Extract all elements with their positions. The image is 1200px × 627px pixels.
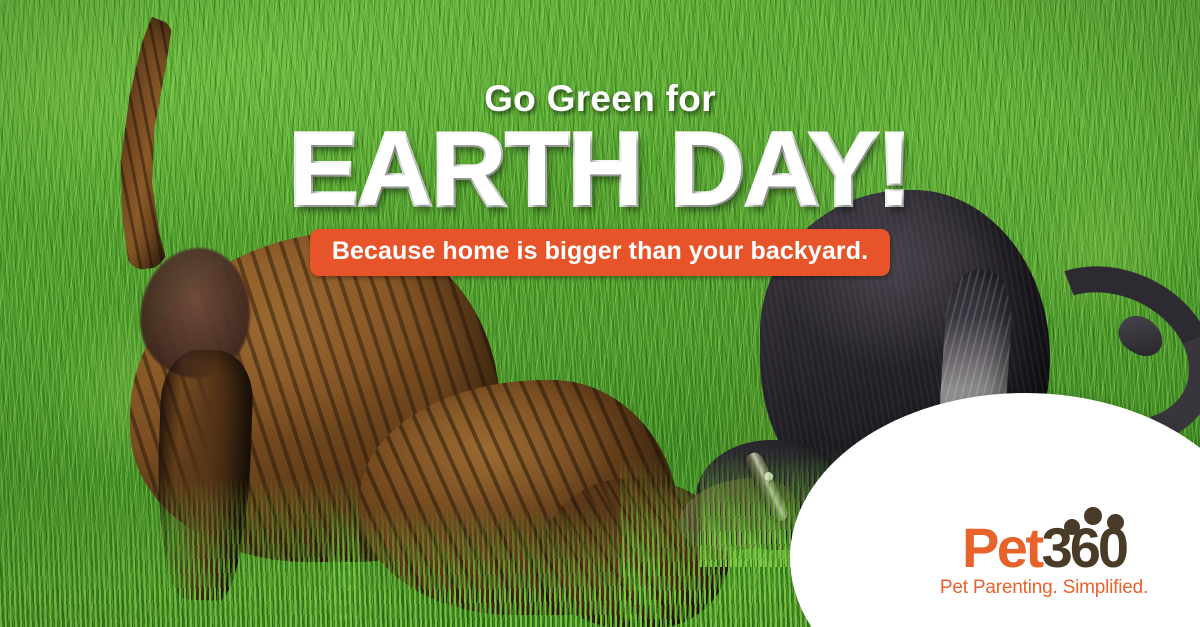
brand-wordmark-primary: Pet: [962, 516, 1042, 579]
page-title: EARTH DAY!: [0, 123, 1200, 219]
headline-block: Go Green for EARTH DAY! Because home is …: [0, 80, 1200, 276]
subhead-row: Because home is bigger than your backyar…: [0, 229, 1200, 276]
brand-wordmark: Pet360: [962, 520, 1126, 576]
earth-day-promo-banner: Go Green for EARTH DAY! Because home is …: [0, 0, 1200, 627]
subhead-banner: Because home is bigger than your backyar…: [310, 229, 890, 276]
brand-wordmark-secondary: 360: [1042, 516, 1126, 579]
brand-logo[interactable]: Pet360 Pet Parenting. Simplified.: [910, 520, 1178, 599]
brand-tagline: Pet Parenting. Simplified.: [910, 577, 1178, 599]
